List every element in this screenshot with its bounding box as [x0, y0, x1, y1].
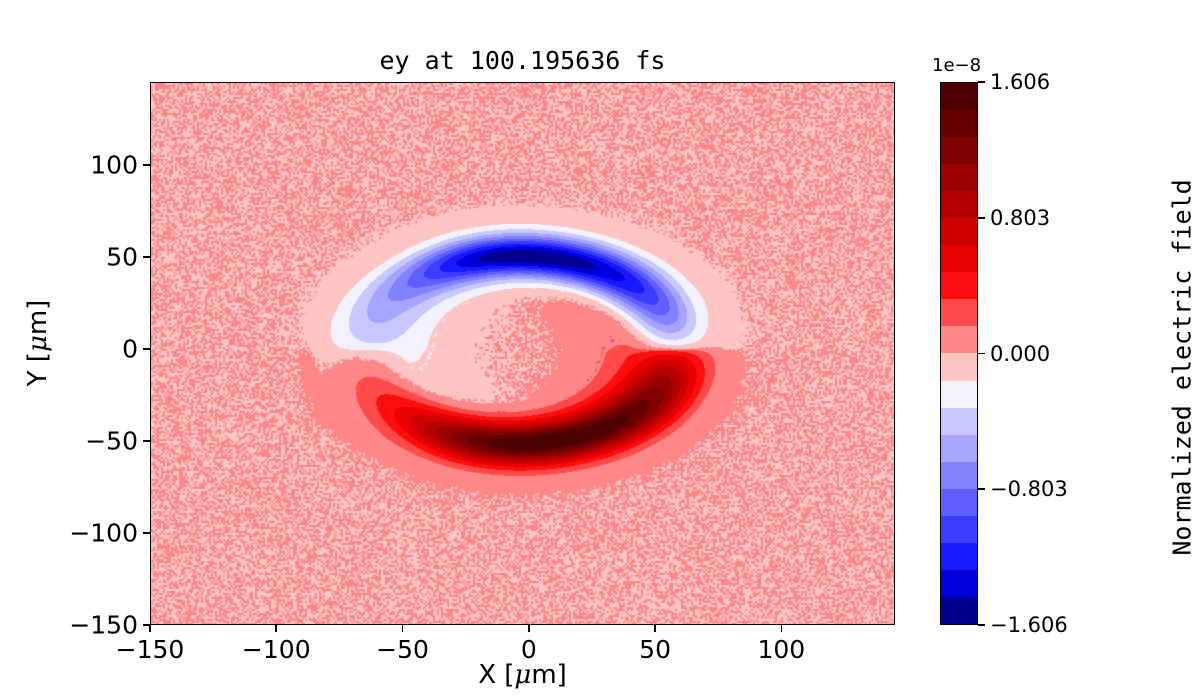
y-axis-label-unit: m]: [23, 300, 53, 335]
plot-axes-area: [150, 82, 895, 625]
colorbar-band-12: [941, 408, 977, 435]
y-tick-label-5: −150: [0, 611, 138, 640]
y-tick-0: [143, 164, 150, 166]
colorbar-band-14: [941, 462, 977, 489]
y-axis-label: Y [μm]: [23, 223, 53, 463]
x-tick-5: [781, 625, 783, 632]
x-tick-4: [654, 625, 656, 632]
x-tick-2: [402, 625, 404, 632]
y-tick-1: [143, 256, 150, 258]
figure-canvas: ey at 100.195636 fs −150−100−50050100100…: [0, 0, 1200, 700]
colorbar-band-11: [941, 381, 977, 408]
colorbar-offset-text: 1e−8: [932, 55, 981, 76]
colorbar-label: Normalized electric field: [1168, 158, 1197, 578]
colorbar-band-3: [941, 164, 977, 191]
y-tick-label-3: −50: [0, 426, 138, 455]
field-heatmap: [151, 83, 895, 625]
colorbar-tick-2: [978, 353, 985, 355]
y-tick-label-0: 100: [0, 150, 138, 179]
colorbar-band-5: [941, 218, 977, 245]
colorbar-tick-label-3: −0.803: [990, 477, 1068, 501]
y-tick-4: [143, 532, 150, 534]
x-tick-3: [528, 625, 530, 632]
colorbar-band-18: [941, 570, 977, 597]
y-axis-label-text: Y [: [23, 352, 53, 386]
colorbar-band-17: [941, 543, 977, 570]
colorbar-band-10: [941, 353, 977, 380]
colorbar: [940, 82, 978, 625]
colorbar-tick-1: [978, 217, 985, 219]
colorbar-tick-3: [978, 488, 985, 490]
y-tick-label-4: −100: [0, 518, 138, 547]
colorbar-band-2: [941, 137, 977, 164]
colorbar-band-19: [941, 597, 977, 624]
y-tick-label-2: 0: [0, 334, 138, 363]
y-tick-5: [143, 624, 150, 626]
x-tick-0: [149, 625, 151, 632]
x-tick-1: [275, 625, 277, 632]
colorbar-gradient: [941, 83, 977, 624]
y-axis-mu-symbol: μ: [23, 335, 53, 352]
y-tick-2: [143, 348, 150, 350]
colorbar-band-9: [941, 326, 977, 353]
page-title: ey at 100.195636 fs: [150, 46, 895, 75]
x-axis-label-unit: m]: [531, 660, 566, 690]
colorbar-band-15: [941, 489, 977, 516]
x-axis-mu-symbol: μ: [514, 660, 531, 690]
colorbar-band-7: [941, 272, 977, 299]
colorbar-band-6: [941, 245, 977, 272]
colorbar-tick-label-1: 0.803: [990, 206, 1050, 230]
x-axis-label-text: X [: [478, 660, 514, 690]
colorbar-band-1: [941, 110, 977, 137]
y-tick-3: [143, 440, 150, 442]
colorbar-tick-0: [978, 81, 985, 83]
colorbar-band-8: [941, 299, 977, 326]
colorbar-tick-label-2: 0.000: [990, 342, 1050, 366]
colorbar-band-0: [941, 83, 977, 110]
colorbar-tick-4: [978, 624, 985, 626]
y-tick-label-1: 50: [0, 242, 138, 271]
colorbar-tick-label-4: −1.606: [990, 613, 1068, 637]
colorbar-band-13: [941, 435, 977, 462]
colorbar-band-16: [941, 516, 977, 543]
colorbar-tick-label-0: 1.606: [990, 70, 1050, 94]
colorbar-band-4: [941, 191, 977, 218]
x-axis-label: X [μm]: [150, 660, 895, 690]
